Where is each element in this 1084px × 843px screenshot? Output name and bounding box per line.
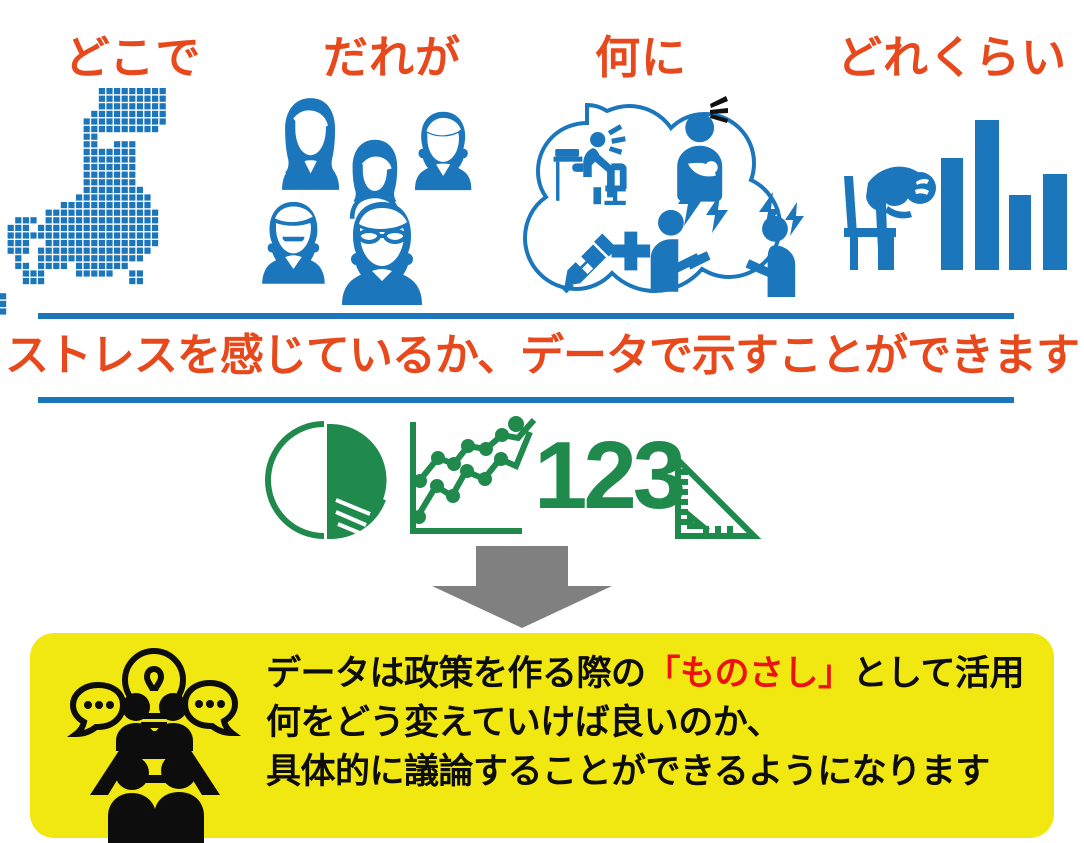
callout-line-1: データは政策を作る際の「ものさし」として活用 [266,649,1036,698]
numbers-123-icon: 123 [534,422,683,529]
divider-line-top [38,313,1014,319]
callout-line-1-post: として活用 [853,654,1024,693]
callout-line-3: 具体的に議論することができるようになります [266,747,1036,796]
group-discussion-lightbulb-icon [62,647,247,827]
icon-row [0,88,1084,308]
line-graph-icon [410,416,534,534]
headline-text: ストレスを感じているか、データで示すことができます [0,322,1084,390]
heading-what: 何に [595,30,687,86]
callout-line-1-pre: データは政策を作る際の [266,654,646,693]
callout-line-1-highlight: 「ものさし」 [646,654,853,693]
five-people-avatars-icon [252,88,502,308]
japan-dot-map-icon [0,88,250,308]
heading-howmuch: どれくらい [837,30,1067,86]
exhausted-person-bar-chart-icon [828,88,1084,308]
infographic-slide: どこで だれが 何に どれくらい [0,0,1084,843]
down-arrow-icon [432,546,612,628]
stress-situations-cloud-icon [512,88,822,308]
heading-where: どこで [65,30,202,86]
triangle-ruler-icon [678,460,754,536]
heading-who: だれが [323,30,461,86]
callout-text-block: データは政策を作る際の「ものさし」として活用 何をどう変えていけば良いのか、 具… [266,649,1036,796]
callout-line-2: 何をどう変えていけば良いのか、 [266,698,1036,747]
divider-line-bottom [38,397,1014,403]
data-tools-icon-row: 123 [262,418,762,543]
conclusion-callout: データは政策を作る際の「ものさし」として活用 何をどう変えていけば良いのか、 具… [30,633,1054,838]
heading-row: どこで だれが 何に どれくらい [0,30,1084,92]
